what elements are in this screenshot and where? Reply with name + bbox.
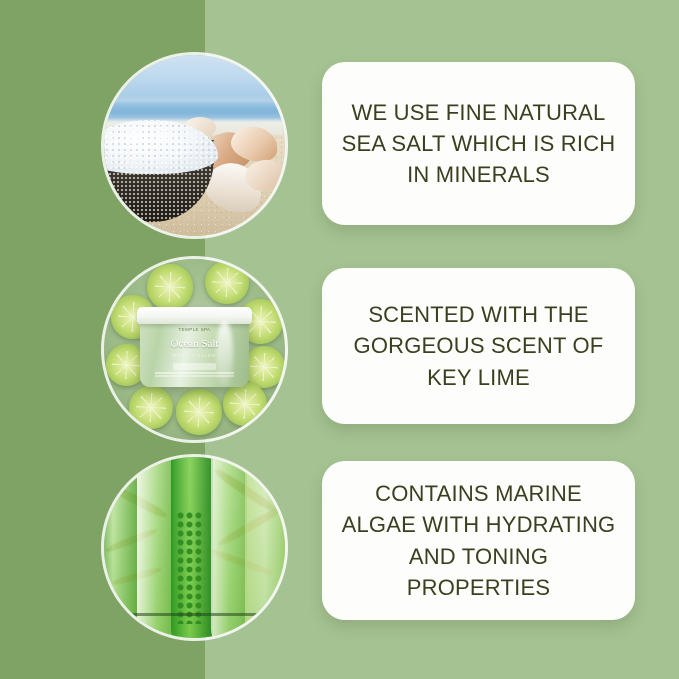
feature-text-sea-salt: WE USE FINE NATURAL SEA SALT WHICH IS RI… xyxy=(322,97,635,191)
jar-product-subtitle: BODY POLISH xyxy=(140,353,249,358)
infographic-page: WE USE FINE NATURAL SEA SALT WHICH IS RI… xyxy=(0,0,679,679)
feature-text-marine-algae: CONTAINS MARINE ALGAE WITH HYDRATING AND… xyxy=(322,478,635,603)
test-tube xyxy=(137,457,173,638)
feature-card-sea-salt: WE USE FINE NATURAL SEA SALT WHICH IS RI… xyxy=(322,62,635,225)
key-lime-scene: TEMPLE SPA Ocean Salt BODY POLISH xyxy=(104,259,285,440)
test-tube xyxy=(211,457,247,638)
lime-slice-icon xyxy=(176,389,221,434)
jar-product-name: Ocean Salt xyxy=(140,338,249,350)
feature-image-key-lime: TEMPLE SPA Ocean Salt BODY POLISH xyxy=(104,259,285,440)
algae-bubble-column xyxy=(176,511,205,623)
jar-badge xyxy=(173,363,216,370)
lime-slice-icon xyxy=(129,386,172,429)
marine-algae-scene xyxy=(104,457,285,638)
feature-image-marine-algae xyxy=(104,457,285,638)
test-tube xyxy=(245,457,285,638)
feature-image-sea-salt xyxy=(104,55,285,236)
lime-slice-icon xyxy=(243,346,285,388)
lime-slice-icon xyxy=(223,382,266,425)
tube-rack-base xyxy=(104,613,285,616)
sea-salt-scene xyxy=(104,55,285,236)
lime-slice-icon xyxy=(205,261,248,304)
jar-fine-print xyxy=(155,372,235,373)
product-jar-lid xyxy=(137,307,251,324)
lime-slice-icon xyxy=(147,264,192,309)
test-tube xyxy=(104,457,137,638)
feature-card-key-lime: SCENTED WITH THE GORGEOUS SCENT OF KEY L… xyxy=(322,268,635,424)
feature-card-marine-algae: CONTAINS MARINE ALGAE WITH HYDRATING AND… xyxy=(322,461,635,620)
jar-brand-label: TEMPLE SPA xyxy=(140,327,249,332)
feature-text-key-lime: SCENTED WITH THE GORGEOUS SCENT OF KEY L… xyxy=(322,299,635,393)
